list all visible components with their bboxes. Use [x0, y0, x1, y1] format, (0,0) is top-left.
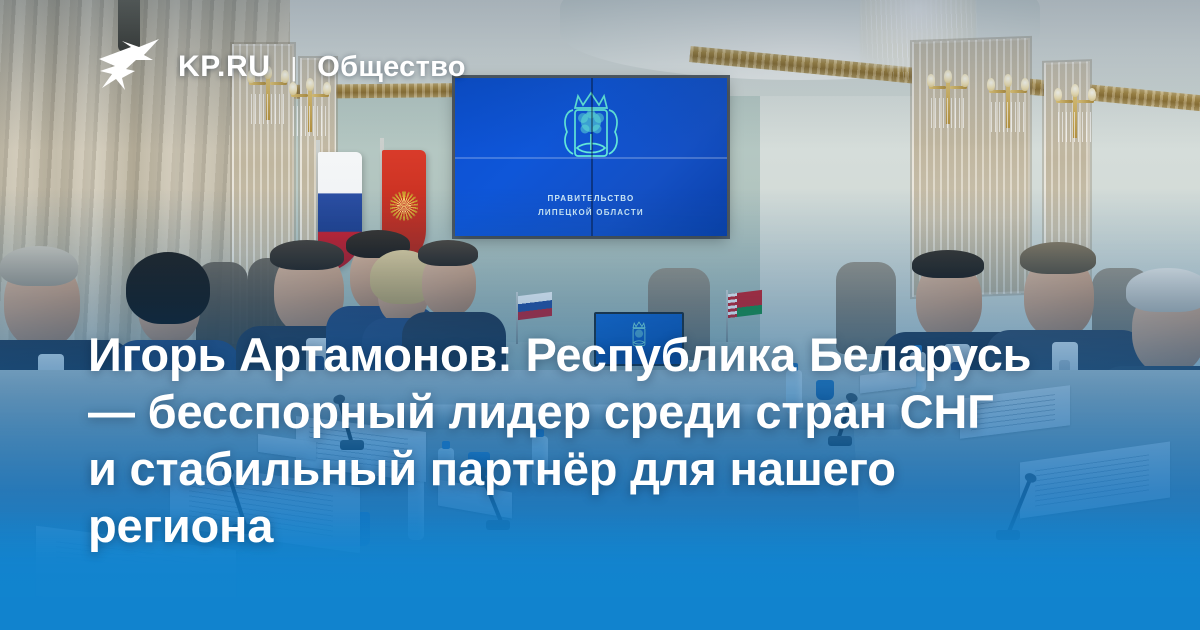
headline-line-3: и стабильный партнёр для нашего: [88, 440, 1118, 497]
page-title: Игорь Артамонов: Республика Беларусь — б…: [88, 326, 1118, 554]
rubric-label[interactable]: Общество: [317, 51, 466, 84]
brand-separator: |: [290, 52, 297, 83]
headline-line-1: Игорь Артамонов: Республика Беларусь: [88, 326, 1118, 383]
headline-line-2: — бесспорный лидер среди стран СНГ: [88, 383, 1118, 440]
brand-bar: KP.RU | Общество: [98, 38, 466, 96]
brand-name[interactable]: KP.RU: [178, 50, 270, 84]
share-card: ПРАВИТЕЛЬСТВО ЛИПЕЦКОЙ ОБЛАСТИ: [0, 0, 1200, 630]
headline-line-4: региона: [88, 497, 1118, 554]
kp-swallow-bird-icon[interactable]: [98, 38, 160, 96]
